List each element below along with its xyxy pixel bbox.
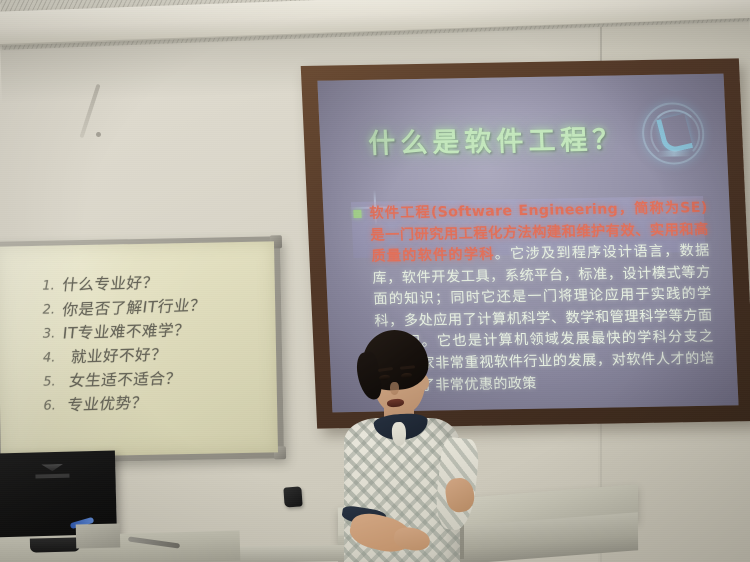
list-item: 6. 专业优势？: [43, 392, 275, 415]
bullet-square-icon: [353, 210, 361, 218]
list-item-number: 6.: [43, 397, 56, 415]
list-item: 2. 你是否了解IT行业？: [42, 297, 274, 320]
list-item-text: 什么专业好？: [61, 273, 159, 296]
desk-device-box: [76, 523, 121, 548]
list-item: 1. 什么专业好？: [42, 273, 274, 296]
whiteboard: 1. 什么专业好？ 2. 你是否了解IT行业？ 3. IT专业难不难学？ 4. …: [0, 236, 284, 463]
slide-title: 什么是软件工程？: [367, 117, 625, 160]
whiteboard-surface: 1. 什么专业好？ 2. 你是否了解IT行业？ 3. IT专业难不难学？ 4. …: [0, 241, 278, 457]
list-item-text: 女生适不适合？: [68, 368, 183, 391]
list-item-text: 就业好不好？: [70, 344, 168, 368]
monitor-stand: [30, 537, 80, 552]
wall-spot-icon: [96, 132, 101, 137]
list-item: 3. IT专业难不难学？: [43, 320, 275, 343]
wall-eraser-icon: [283, 486, 302, 507]
list-item: 5. 女生适不适合？: [43, 368, 275, 391]
whiteboard-question-list: 1. 什么专业好？ 2. 你是否了解IT行业？ 3. IT专业难不难学？ 4. …: [42, 273, 275, 416]
list-item-text: 专业优势？: [66, 392, 149, 416]
university-emblem-icon: [641, 102, 706, 165]
list-item-number: 2.: [43, 301, 56, 319]
presenter-nose: [390, 382, 399, 395]
list-item-number: 4.: [43, 349, 56, 367]
monitor-brand-bar: [35, 474, 69, 479]
list-item-number: 1.: [42, 277, 55, 295]
list-item: 4. 就业好不好？: [43, 344, 275, 367]
emblem-base-icon: [657, 150, 691, 157]
list-item-number: 5.: [43, 373, 56, 391]
list-item-text: IT专业难不难学？: [62, 320, 191, 344]
monitor-logo-icon: [41, 464, 63, 472]
list-item-text: 你是否了解IT行业？: [61, 295, 207, 321]
list-item-number: 3.: [43, 325, 56, 343]
classroom-photo: 1. 什么专业好？ 2. 你是否了解IT行业？ 3. IT专业难不难学？ 4. …: [0, 0, 750, 562]
